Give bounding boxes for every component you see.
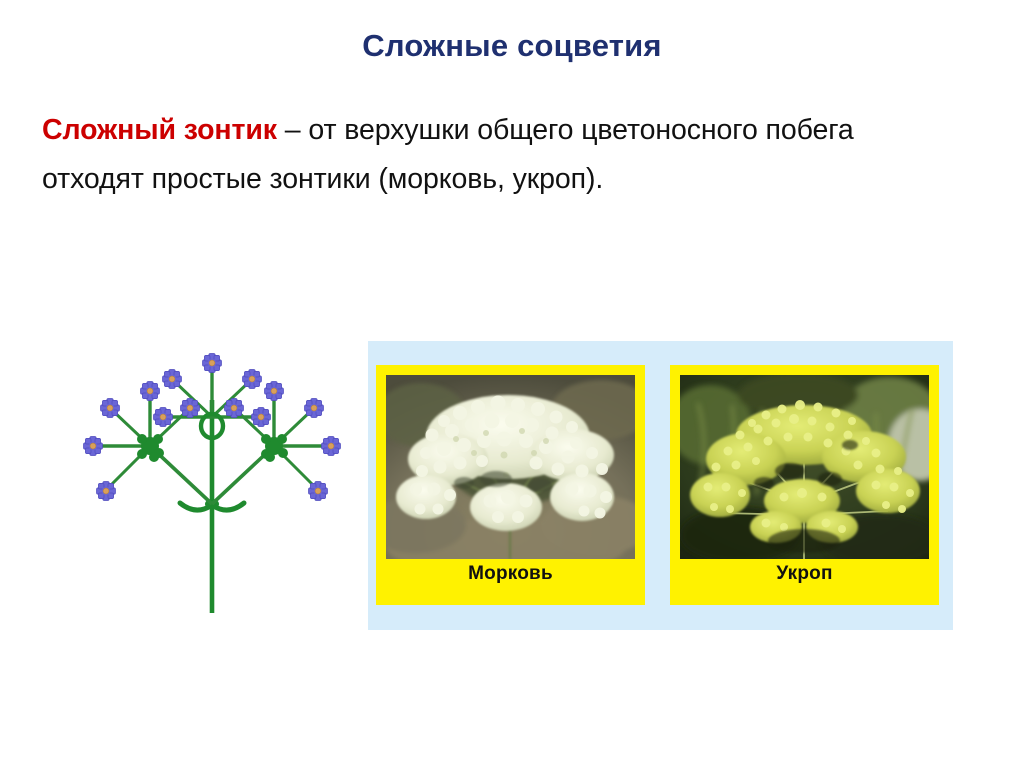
flower <box>141 382 160 401</box>
flower <box>225 399 244 418</box>
photo-frame-carrot <box>386 375 635 559</box>
flower <box>305 399 324 418</box>
carrot-photo-image <box>386 375 635 559</box>
flower <box>322 437 341 456</box>
compound-umbel-svg <box>62 338 362 626</box>
page-title: Сложные соцветия <box>0 28 1024 64</box>
photo-card-dill: Укроп <box>670 365 939 605</box>
left-umbel <box>84 382 200 501</box>
diagram-geometry <box>84 354 341 614</box>
flower <box>309 482 328 501</box>
photo-caption-carrot: Морковь <box>376 563 645 585</box>
term-slozhny-zontik: Сложный зонтик <box>42 114 277 146</box>
definition-paragraph: Сложный зонтик – от верхушки общего цвет… <box>42 106 942 204</box>
photo-caption-dill: Укроп <box>670 563 939 585</box>
flower <box>203 354 222 373</box>
flower <box>265 382 284 401</box>
left-node <box>137 434 164 462</box>
photo-frame-dill <box>680 375 929 559</box>
compound-umbel-diagram <box>62 338 362 626</box>
photo-panel: Морковь <box>368 341 953 630</box>
flower <box>154 408 173 427</box>
flower <box>252 408 271 427</box>
flower <box>181 399 200 418</box>
flower <box>97 482 116 501</box>
flower <box>243 370 262 389</box>
right-umbel <box>225 382 341 501</box>
dill-photo-image <box>680 375 929 559</box>
photo-card-carrot: Морковь <box>376 365 645 605</box>
flower <box>84 437 103 456</box>
flower <box>163 370 182 389</box>
right-node <box>261 434 288 462</box>
flower <box>101 399 120 418</box>
